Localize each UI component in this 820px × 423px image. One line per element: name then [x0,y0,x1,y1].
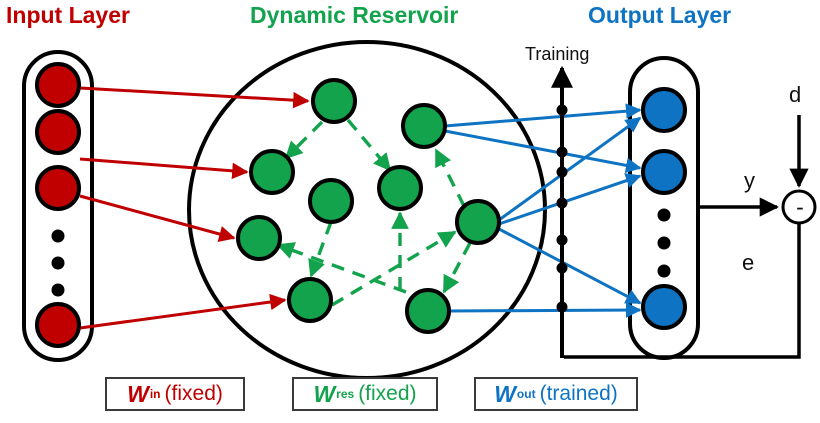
legend-w-res: Wres(fixed) [292,377,438,411]
reservoir-node[interactable] [457,201,499,243]
output-node[interactable] [643,89,685,131]
legend-w-res-note: (fixed) [358,382,416,406]
diagram-canvas [0,0,820,423]
reservoir-node[interactable] [379,167,421,209]
input-node[interactable] [37,304,79,346]
esn-diagram: Input Layer Dynamic Reservoir Output Lay… [0,0,820,423]
output-ellipsis-dots [658,209,671,278]
legend-w-out: Wout(trained) [474,377,638,411]
reservoir-node[interactable] [238,217,280,259]
legend-w-in-note: (fixed) [165,382,223,406]
input-node[interactable] [37,64,79,106]
legend-w-res-symbol: W [313,381,335,408]
reservoir-node[interactable] [403,105,445,147]
legend-w-res-superscript: res [336,387,354,401]
desired-signal-label: d [789,82,801,108]
legend-w-out-symbol: W [494,381,516,408]
legend-w-in-symbol: W [127,381,149,408]
legend-w-in: Win(fixed) [105,377,245,411]
legend-w-in-superscript: in [150,387,161,401]
reservoir-node[interactable] [251,151,293,193]
output-node[interactable] [643,151,685,193]
training-label: Training [525,44,589,65]
reservoir-node[interactable] [313,80,355,122]
legend-w-out-note: (trained) [540,382,618,406]
reservoir-node[interactable] [407,290,449,332]
reservoir-node[interactable] [289,279,331,321]
input-ellipsis-dots [52,230,65,297]
input-node[interactable] [37,167,79,209]
reservoir-node[interactable] [310,180,352,222]
training-signal-bar [557,68,568,358]
output-signal-label: y [744,168,755,194]
minus-sign-icon: - [792,195,808,219]
output-node[interactable] [643,286,685,328]
legend-w-out-superscript: out [517,387,536,401]
error-signal-label: e [742,250,754,276]
input-node[interactable] [37,111,79,153]
